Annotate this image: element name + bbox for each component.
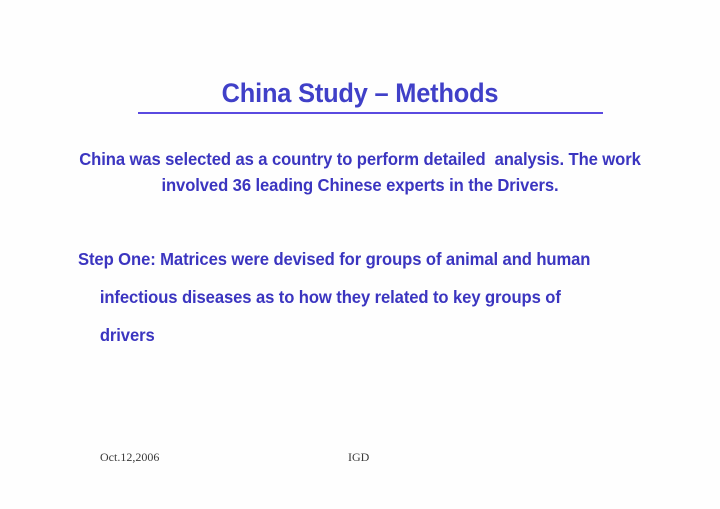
step-one-line-3: drivers bbox=[100, 316, 610, 354]
footer-date: Oct.12,2006 bbox=[100, 449, 159, 465]
intro-paragraph: China was selected as a country to perfo… bbox=[75, 146, 645, 198]
slide-footer: Oct.12,2006 IGD bbox=[100, 449, 640, 467]
step-one-paragraph: Step One: Matrices were devised for grou… bbox=[78, 240, 610, 354]
page-title: China Study – Methods bbox=[22, 78, 699, 108]
title-underline-rule bbox=[138, 112, 603, 114]
slide-title-block: China Study – Methods bbox=[0, 78, 720, 108]
step-one-line-2: infectious diseases as to how they relat… bbox=[100, 278, 610, 316]
footer-organization: IGD bbox=[348, 449, 369, 465]
step-one-line-1: Step One: Matrices were devised for grou… bbox=[78, 240, 610, 278]
slide-canvas: China Study – Methods China was selected… bbox=[0, 0, 720, 509]
